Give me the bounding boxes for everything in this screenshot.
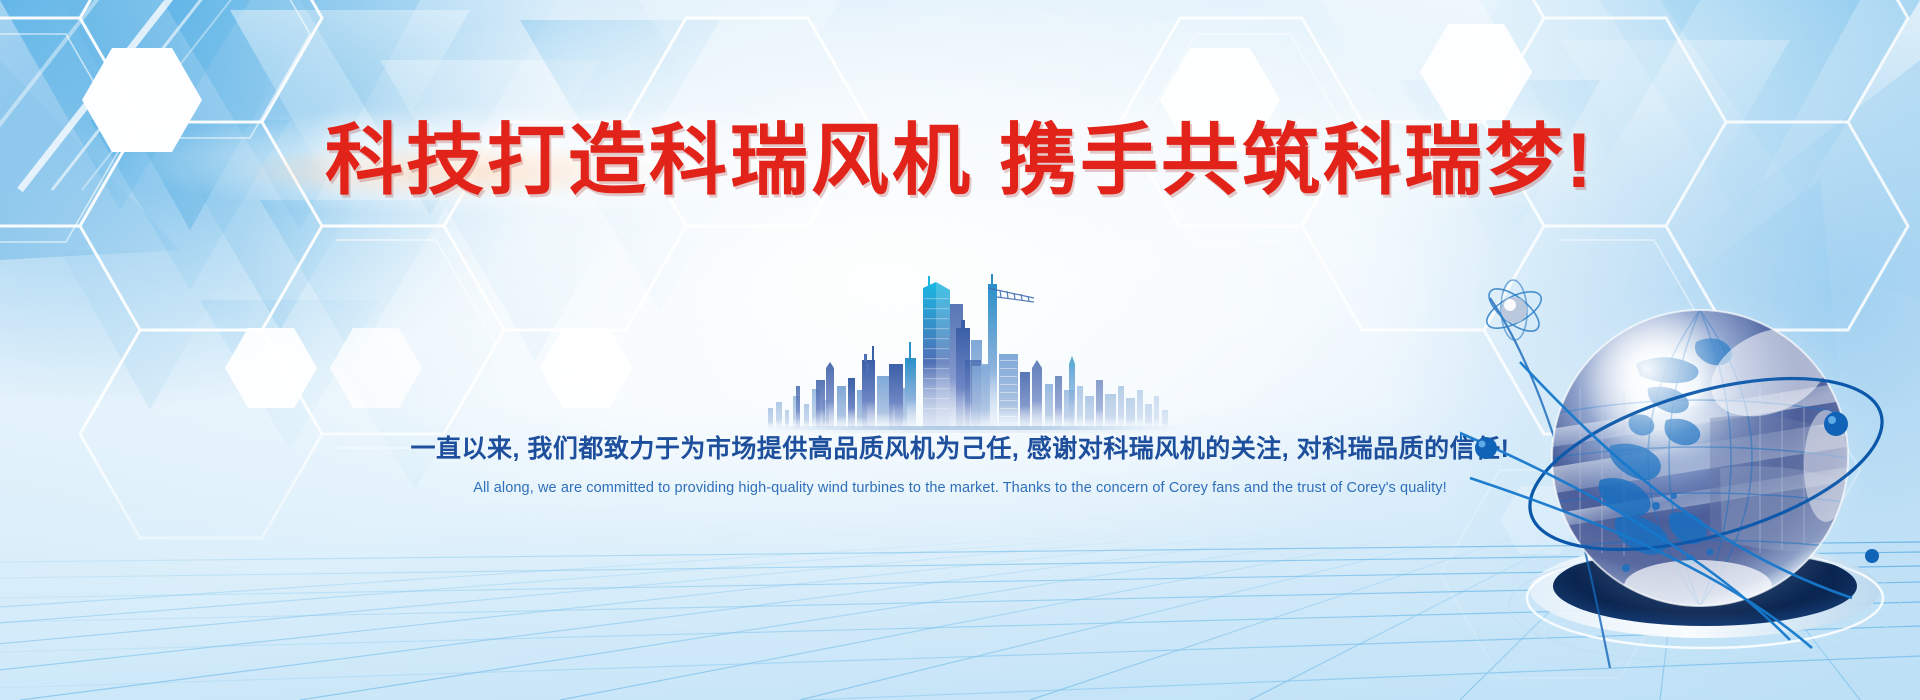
headline-part-1: 科技打造科瑞风机: [325, 116, 973, 204]
globe-3d-illustration: [1460, 268, 1920, 700]
hero-banner: 科技打造科瑞风机携手共筑科瑞梦! 一直以来, 我们都致力于为市场提供高品质风机为…: [0, 0, 1920, 700]
page-title: 科技打造科瑞风机携手共筑科瑞梦!: [0, 118, 1920, 202]
city-skyline-illustration: [760, 268, 1180, 433]
headline-part-2: 携手共筑科瑞梦!: [999, 116, 1595, 204]
